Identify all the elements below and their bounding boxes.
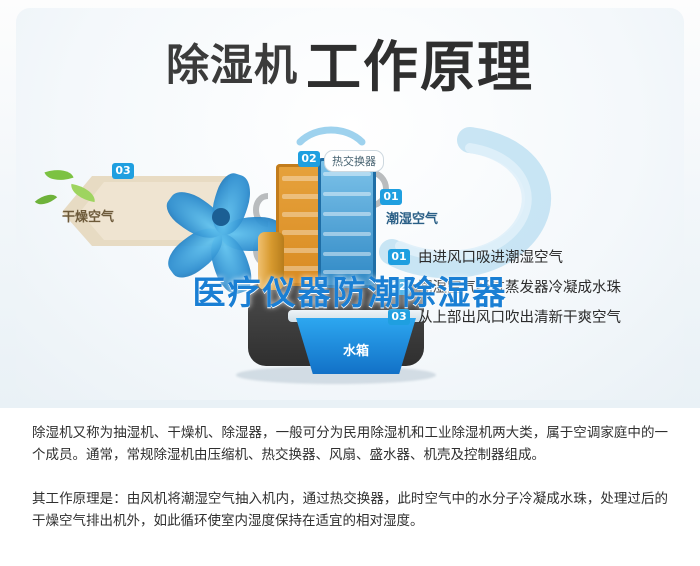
fan-hub (212, 208, 230, 226)
step-badge: 01 (388, 249, 410, 265)
top-arrow (300, 130, 362, 142)
illustration-panel: 除湿机工作原理 (0, 0, 700, 408)
badge-03: 03 (112, 163, 134, 179)
humid-air-flow-highlight (400, 148, 527, 256)
heat-exchanger-label: 热交换器 (324, 150, 384, 172)
badge-01: 01 (380, 189, 402, 205)
dry-air-label: 干燥空气 (62, 206, 114, 225)
description-block: 除湿机又称为抽湿机、干燥机、除湿器，一般可分为民用除湿机和工业除湿机两大类，属于… (0, 408, 700, 566)
step-text: 由进风口吸进潮湿空气 (418, 246, 563, 267)
water-tank-label: 水箱 (322, 340, 390, 359)
badge-02: 02 (298, 151, 320, 167)
description-paragraph-1: 除湿机又称为抽湿机、干燥机、除湿器，一般可分为民用除湿机和工业除湿机两大类，属于… (32, 422, 668, 466)
infographic-page: 除湿机工作原理 (0, 0, 700, 566)
watermark-headline: 医疗仪器防潮除湿器 (0, 266, 700, 314)
description-paragraph-2: 其工作原理是：由风机将潮湿空气抽入机内，通过热交换器，此时空气中的水分子冷凝成水… (32, 488, 668, 532)
humid-air-label: 潮湿空气 (386, 208, 438, 227)
